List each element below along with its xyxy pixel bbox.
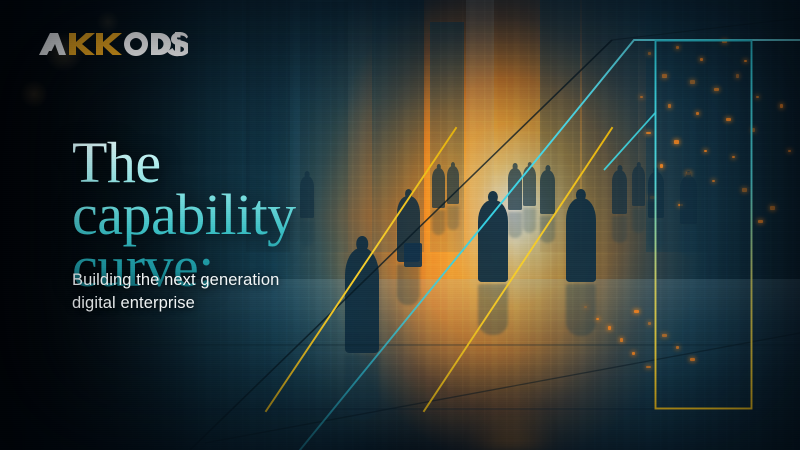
hero-banner: The capability curve: Building the next … xyxy=(0,0,800,450)
hero-subhead: Building the next generation digital ent… xyxy=(72,269,344,316)
akkodis-wordmark-icon xyxy=(38,31,188,57)
cyan-to-yellow-rectangle xyxy=(656,41,752,409)
cyan-corner-tick xyxy=(604,112,656,170)
akkodis-logo[interactable] xyxy=(38,30,188,58)
